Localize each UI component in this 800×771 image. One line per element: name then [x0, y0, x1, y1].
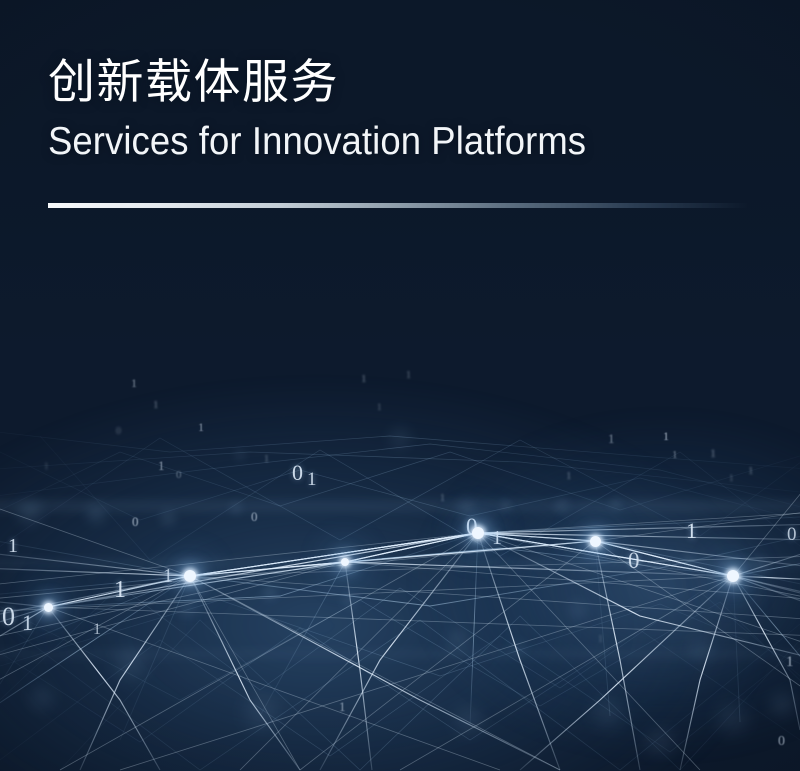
- binary-digit: 1: [339, 700, 346, 713]
- binary-digit: 1: [307, 470, 317, 489]
- bokeh-node: [13, 495, 47, 529]
- bokeh-node: [156, 506, 180, 530]
- network-hub-node: [44, 603, 53, 612]
- network-hub-node: [472, 527, 484, 539]
- binary-digit: 0: [176, 470, 182, 481]
- binary-digit: 0: [787, 525, 797, 544]
- bokeh-node: [448, 700, 488, 740]
- binary-digit: 1: [492, 528, 502, 548]
- bokeh-node: [175, 597, 201, 623]
- bokeh-node: [710, 696, 754, 740]
- binary-digit: 1: [566, 471, 572, 482]
- binary-digit: 0: [132, 515, 139, 528]
- bokeh-node: [231, 446, 249, 464]
- binary-digit: 1: [158, 459, 165, 472]
- bokeh-node: [384, 422, 416, 454]
- binary-digit: 1: [710, 447, 716, 459]
- binary-digit: 1: [608, 432, 615, 445]
- binary-digit: 1: [406, 371, 411, 381]
- bokeh-node: [226, 498, 246, 518]
- binary-digit: 1: [748, 466, 754, 477]
- network-hub-node: [727, 570, 739, 582]
- page-title-english: Services for Innovation Platforms: [48, 122, 586, 163]
- bokeh-node: [586, 690, 630, 734]
- network-hub-node: [341, 558, 349, 566]
- binary-digit: 1: [440, 494, 445, 504]
- gradient-divider-rule: [48, 203, 748, 208]
- binary-digit: 1: [598, 635, 603, 645]
- bokeh-node: [238, 688, 286, 736]
- binary-digit: 1: [361, 374, 367, 385]
- headline-block: 创新载体服务 Services for Innovation Platforms: [48, 58, 624, 163]
- bokeh-node: [338, 588, 362, 612]
- page-title-chinese: 创新载体服务: [48, 58, 624, 105]
- binary-digit: 1: [93, 622, 101, 638]
- binary-digit: 1: [44, 462, 49, 471]
- binary-digit: 1: [786, 655, 794, 670]
- bokeh-node: [764, 686, 800, 722]
- bokeh-node: [680, 550, 700, 570]
- binary-digit: 1: [729, 474, 734, 483]
- binary-digit: 1: [198, 421, 204, 433]
- binary-digit: 0: [778, 735, 785, 749]
- binary-digit: 1: [153, 400, 159, 411]
- binary-digit: 1: [264, 455, 269, 465]
- binary-digit: 0: [628, 549, 640, 572]
- binary-digit: 1: [114, 578, 126, 602]
- bokeh-node: [564, 596, 592, 624]
- binary-digit: 1: [22, 612, 33, 634]
- binary-digit: 0: [116, 427, 121, 437]
- binary-digit: 1: [163, 566, 173, 586]
- binary-digit: 0: [292, 462, 303, 484]
- bokeh-node: [748, 554, 772, 578]
- bokeh-node: [24, 680, 60, 716]
- binary-digit: 0: [251, 510, 258, 523]
- bokeh-node: [506, 636, 530, 660]
- binary-digit: 1: [672, 450, 678, 461]
- bokeh-node: [551, 495, 573, 517]
- bokeh-node: [682, 632, 718, 668]
- bokeh-node: [108, 642, 152, 686]
- binary-digit: 1: [686, 520, 697, 542]
- binary-digit: 1: [663, 430, 669, 442]
- network-hub-node: [590, 536, 601, 547]
- bokeh-node: [640, 722, 680, 762]
- bokeh-node: [606, 494, 626, 514]
- bokeh-node: [442, 624, 474, 656]
- binary-digit: 0: [2, 604, 15, 630]
- network-hub-node: [184, 570, 196, 582]
- bokeh-node: [259, 582, 281, 604]
- binary-digit: 1: [8, 536, 18, 556]
- innovation-platforms-banner: 11101111010110101111111101010110111101 创…: [0, 0, 800, 771]
- binary-digit: 1: [377, 403, 382, 412]
- binary-digit: 1: [131, 377, 137, 389]
- bokeh-node: [82, 500, 110, 528]
- bokeh-node: [497, 496, 515, 514]
